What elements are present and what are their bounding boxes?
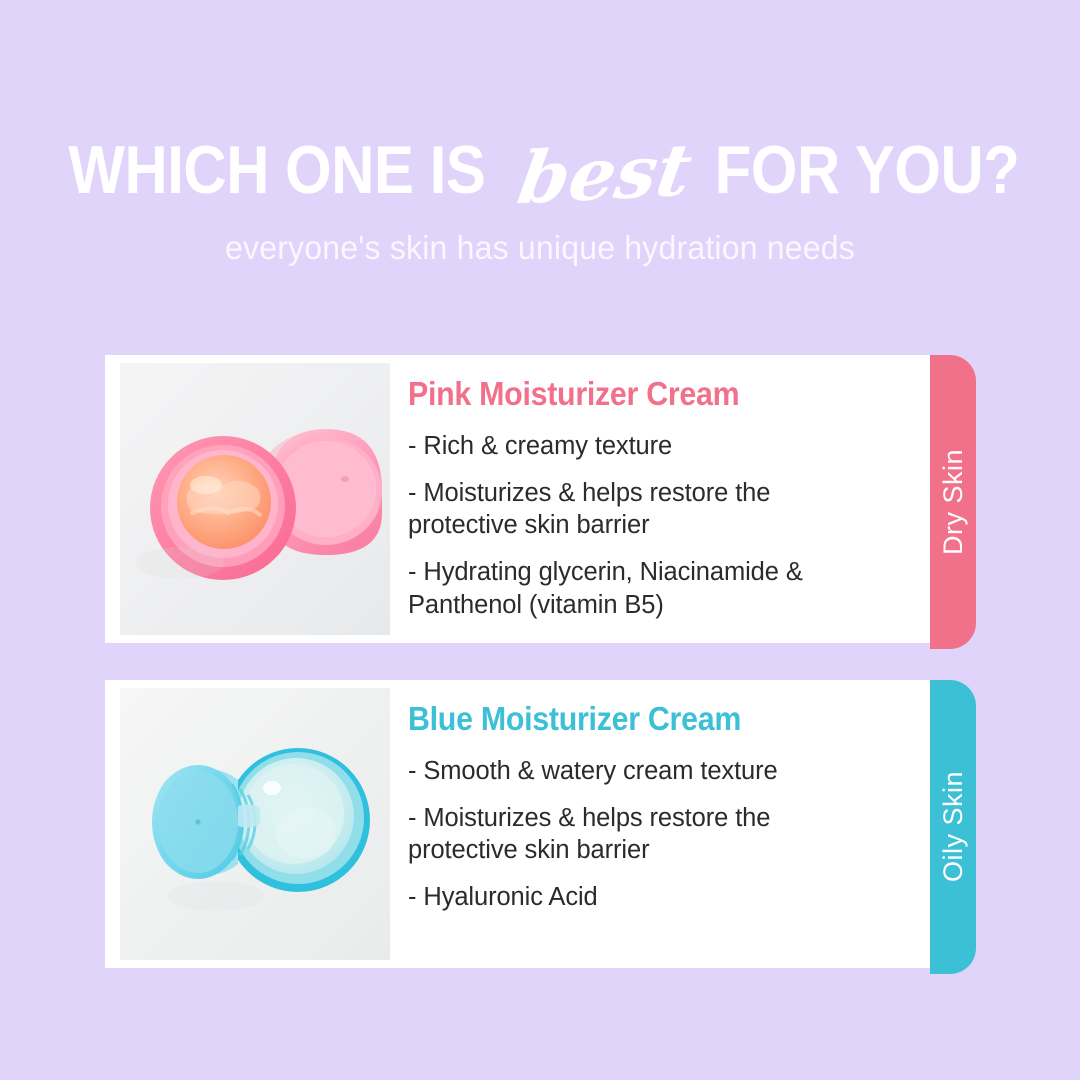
blue-feature-2: - Moisturizes & helps restore the protec… xyxy=(408,802,883,867)
blue-card-text: Blue Moisturizer Cream - Smooth & watery… xyxy=(390,688,930,960)
pink-card-text: Pink Moisturizer Cream - Rich & creamy t… xyxy=(390,363,930,635)
skin-type-tab-oily-label: Oily Skin xyxy=(938,771,969,882)
skin-type-tab-oily[interactable]: Oily Skin xyxy=(930,680,976,974)
page-headline: WHICH ONE ISbestFOR YOU? xyxy=(0,134,1080,206)
blue-feature-3: - Hyaluronic Acid xyxy=(408,881,883,914)
pink-moisturizer-jar-photo xyxy=(120,363,390,635)
skin-type-tab-dry-label: Dry Skin xyxy=(938,449,969,555)
headline-script-word: best xyxy=(513,134,696,215)
headline-post-text: FOR YOU? xyxy=(715,136,1020,204)
pink-feature-3: - Hydrating glycerin, Niacinamide & Pant… xyxy=(408,556,883,621)
pink-feature-2: - Moisturizes & helps restore the protec… xyxy=(408,477,883,542)
product-card-blue[interactable]: Blue Moisturizer Cream - Smooth & watery… xyxy=(105,680,930,968)
blue-moisturizer-jar-photo xyxy=(120,688,390,960)
blue-card-title: Blue Moisturizer Cream xyxy=(408,700,872,738)
skin-type-tab-dry[interactable]: Dry Skin xyxy=(930,355,976,649)
page-subtitle: everyone's skin has unique hydration nee… xyxy=(16,229,1064,267)
header: WHICH ONE ISbestFOR YOU? everyone's skin… xyxy=(0,0,1080,310)
product-card-pink[interactable]: Pink Moisturizer Cream - Rich & creamy t… xyxy=(105,355,930,643)
headline-pre-text: WHICH ONE IS xyxy=(69,136,486,204)
pink-feature-1: - Rich & creamy texture xyxy=(408,430,883,463)
blue-feature-1: - Smooth & watery cream texture xyxy=(408,755,883,788)
pink-card-title: Pink Moisturizer Cream xyxy=(408,375,872,413)
